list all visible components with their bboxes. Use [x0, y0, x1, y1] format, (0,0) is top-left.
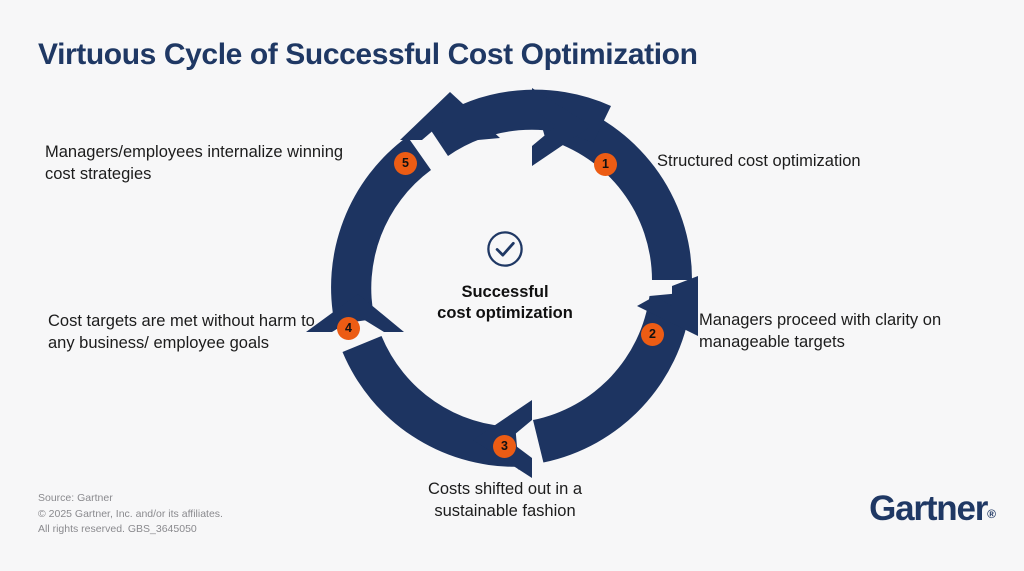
center-caption-line-2: cost optimization: [405, 303, 605, 324]
step-label-3: Costs shifted out in a sustainable fashi…: [390, 479, 620, 523]
source-line-1: Source: Gartner: [38, 491, 223, 507]
registered-trademark-icon: ®: [987, 507, 996, 521]
step-badge-5[interactable]: 5: [394, 152, 417, 175]
step-badge-1[interactable]: 1: [594, 153, 617, 176]
step-label-2: Managers proceed with clarity on managea…: [699, 310, 979, 354]
infographic-canvas: Virtuous Cycle of Successful Cost Optimi…: [0, 0, 1024, 571]
page-title: Virtuous Cycle of Successful Cost Optimi…: [38, 38, 698, 72]
source-line-2: © 2025 Gartner, Inc. and/or its affiliat…: [38, 507, 223, 523]
center-caption-line-1: Successful: [405, 282, 605, 303]
step-badge-2[interactable]: 2: [641, 323, 664, 346]
source-line-3: All rights reserved. GBS_3645050: [38, 522, 223, 538]
gartner-logo: Gartner®: [869, 489, 996, 529]
center-label-group: Successful cost optimization: [405, 228, 605, 324]
check-circle-icon: [484, 228, 526, 270]
step-label-1: Structured cost optimization: [657, 151, 861, 173]
step-label-5: Managers/employees internalize winning c…: [45, 142, 345, 186]
step-badge-4[interactable]: 4: [337, 317, 360, 340]
gartner-logo-wordmark: Gartner: [869, 489, 987, 528]
step-badge-3[interactable]: 3: [493, 435, 516, 458]
step-label-4: Cost targets are met without harm to any…: [48, 311, 318, 355]
source-attribution: Source: Gartner © 2025 Gartner, Inc. and…: [38, 491, 223, 538]
